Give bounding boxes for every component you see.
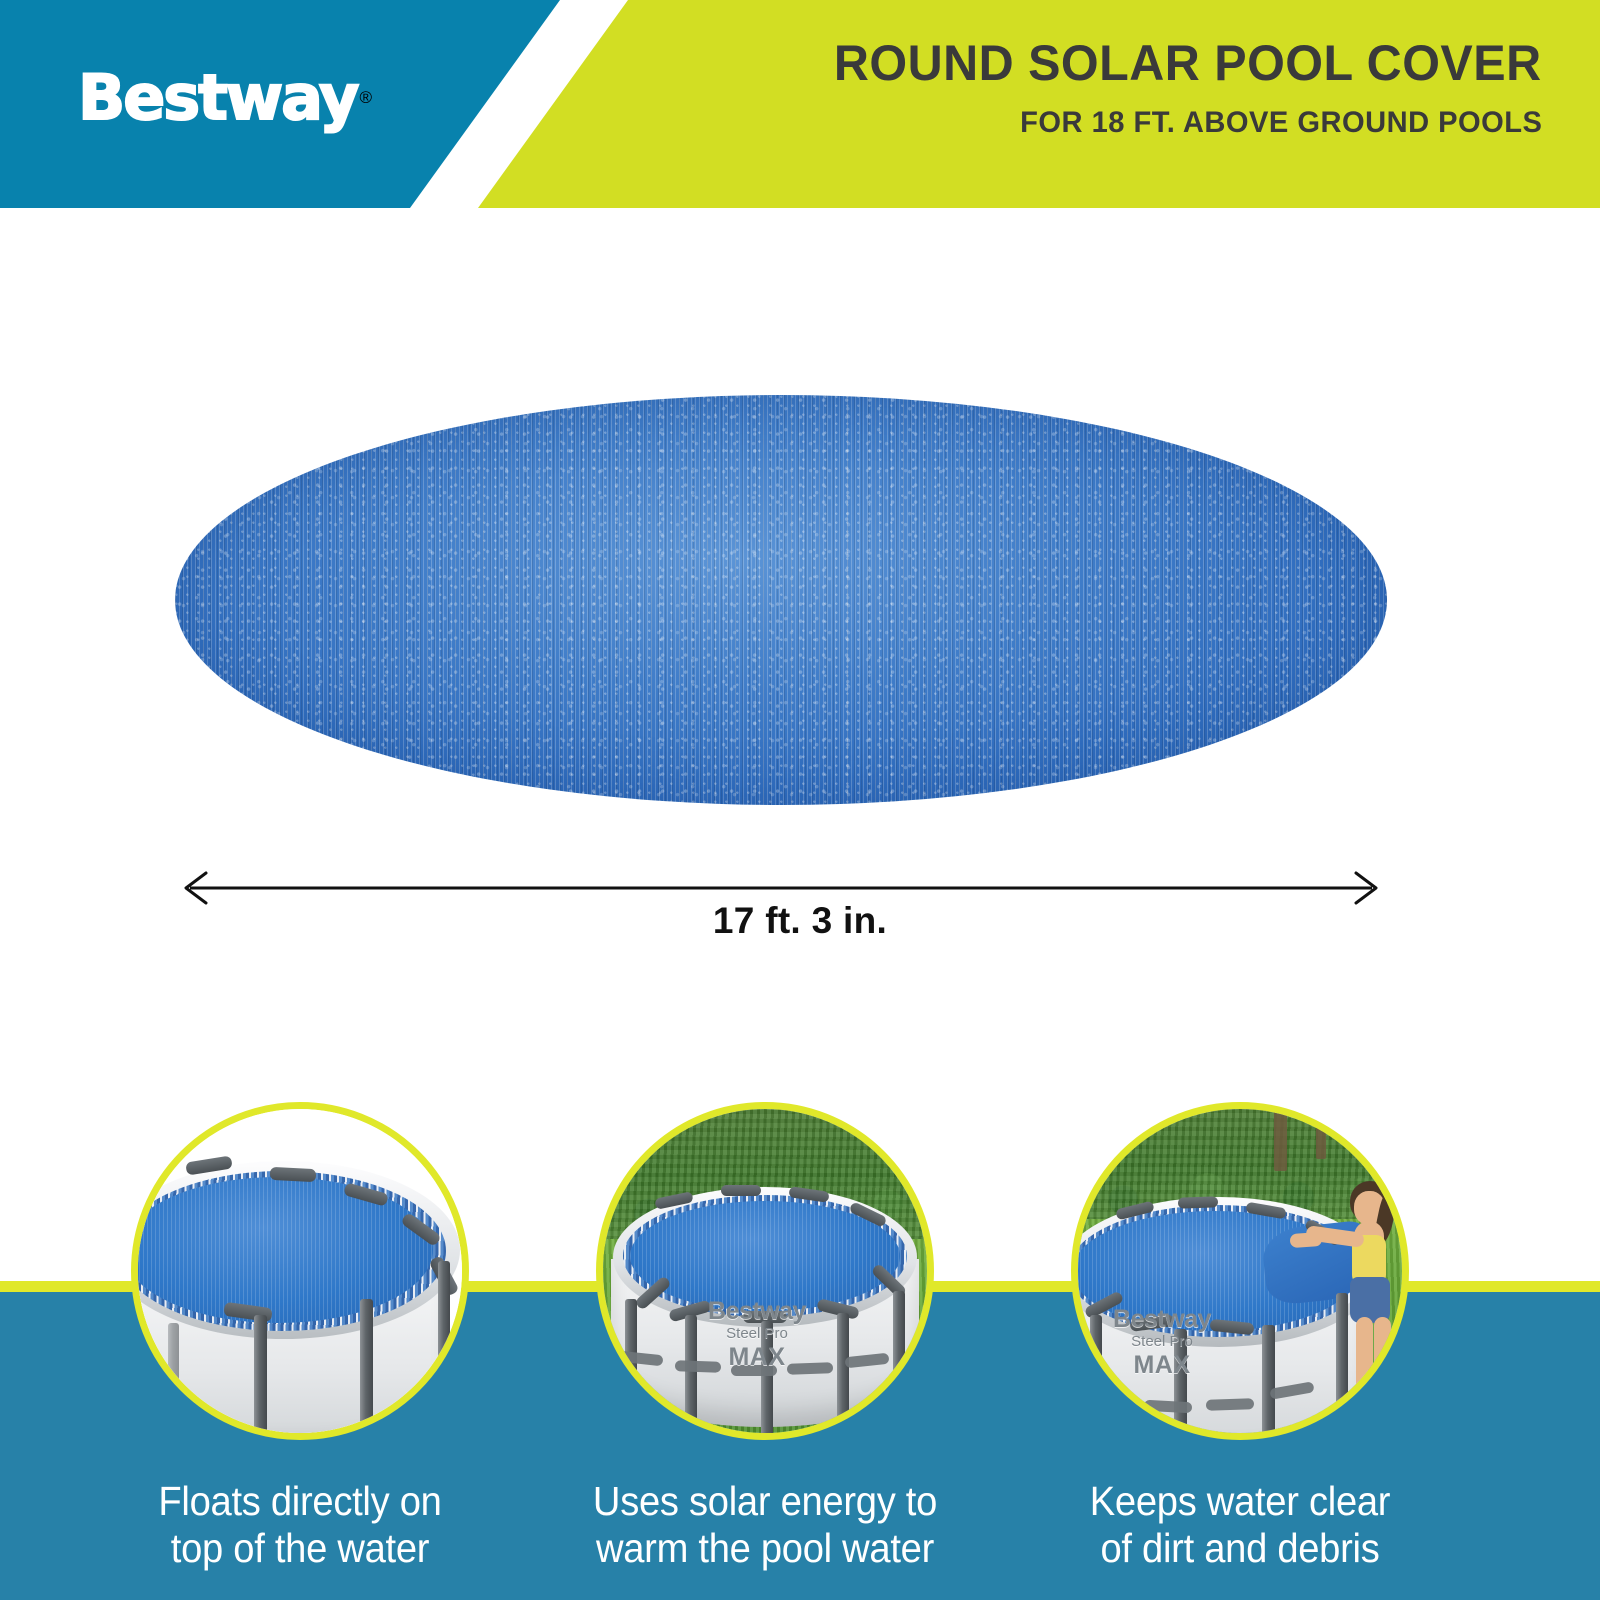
tree-trunk-3a: [1274, 1109, 1287, 1171]
solar-cover-2: [630, 1201, 900, 1311]
person-leg-right: [1374, 1317, 1391, 1405]
person-leg-left: [1356, 1317, 1373, 1403]
feature-caption-3-line1: Keeps water clear: [1054, 1478, 1426, 1525]
feature-photo-1: [131, 1102, 469, 1440]
pool-post-1c: [438, 1261, 450, 1411]
feature-photo-3: Bestway Steel Pro MAX: [1071, 1102, 1409, 1440]
pool-post-2e: [893, 1291, 905, 1409]
brand-sub-2: Steel Pro: [687, 1326, 827, 1343]
feature-circles-group: Bestway Steel Pro MAX: [0, 0, 1600, 1600]
photo-cover-floating: [138, 1109, 462, 1433]
photo-pool-in-garden: Bestway Steel Pro MAX: [603, 1109, 927, 1433]
brand-max-3: MAX: [1092, 1351, 1232, 1379]
pool-brand-label-2: Bestway Steel Pro MAX: [687, 1297, 827, 1371]
pool-post-1b: [360, 1299, 373, 1433]
pool-post-2a: [625, 1299, 637, 1429]
rail-clip-2b: [721, 1185, 761, 1196]
rail-clip-1b: [270, 1167, 317, 1182]
pool-post-2d: [837, 1313, 849, 1433]
brand-max-2: MAX: [687, 1343, 827, 1371]
rail-clip-3b: [1178, 1196, 1218, 1208]
feature-caption-1: Floats directly on top of the water: [114, 1478, 486, 1572]
brand-sub-3: Steel Pro: [1092, 1334, 1232, 1351]
photo-woman-removing-cover: Bestway Steel Pro MAX: [1078, 1109, 1402, 1433]
pool-post-3c: [1262, 1325, 1275, 1433]
pool-post-3d: [1336, 1293, 1348, 1433]
brand-name-3: Bestway: [1092, 1305, 1232, 1333]
tree-trunk-3b: [1316, 1109, 1326, 1159]
feature-caption-1-line1: Floats directly on: [114, 1478, 486, 1525]
pool-brand-label-3: Bestway Steel Pro MAX: [1092, 1305, 1232, 1379]
feature-photo-2: Bestway Steel Pro MAX: [596, 1102, 934, 1440]
pool-post-1d: [168, 1323, 179, 1433]
person-shorts: [1350, 1277, 1390, 1323]
feature-caption-2-line2: warm the pool water: [579, 1525, 951, 1572]
brand-name-2: Bestway: [687, 1297, 827, 1325]
feature-caption-3: Keeps water clear of dirt and debris: [1054, 1478, 1426, 1572]
wall-band-3c: [1206, 1398, 1254, 1411]
feature-caption-1-line2: top of the water: [114, 1525, 486, 1572]
pool-post-1a: [254, 1315, 267, 1433]
feature-caption-2: Uses solar energy to warm the pool water: [579, 1478, 951, 1572]
person-foot-right: [1370, 1399, 1400, 1411]
feature-caption-2-line1: Uses solar energy to: [579, 1478, 951, 1525]
person-forearm: [1290, 1232, 1323, 1248]
product-info-graphic: Bestway® ROUND SOLAR POOL COVER FOR 18 F…: [0, 0, 1600, 1600]
feature-caption-3-line2: of dirt and debris: [1054, 1525, 1426, 1572]
